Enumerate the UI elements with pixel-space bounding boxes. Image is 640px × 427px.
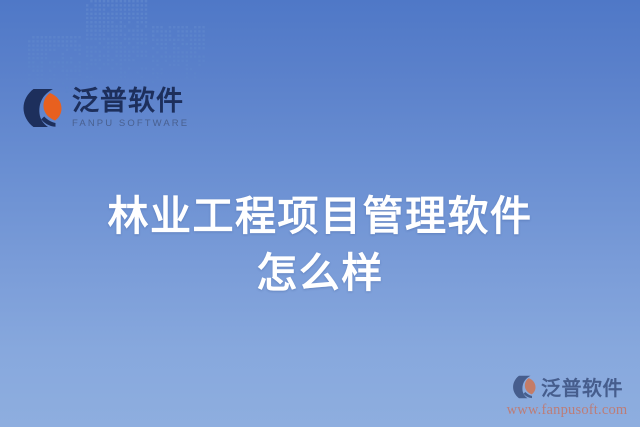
headline-line-1: 林业工程项目管理软件 (0, 188, 640, 245)
brand-name-cn: 泛普软件 (72, 88, 189, 116)
fanpu-hexagon-swoosh-logo-icon (20, 86, 64, 130)
fanpu-hexagon-swoosh-logo-icon (511, 374, 537, 400)
promo-banner: 泛普软件 FANPU SOFTWARE 林业工程项目管理软件 怎么样 泛普软件 … (0, 0, 640, 427)
watermark-url: www.fanpusoft.com (502, 402, 632, 419)
watermark: 泛普软件 www.fanpusoft.com (502, 372, 632, 419)
brand-wordmark: 泛普软件 FANPU SOFTWARE (72, 88, 189, 129)
watermark-logo-row: 泛普软件 (502, 372, 632, 401)
brand-name-en: FANPU SOFTWARE (72, 118, 189, 129)
brand-logo: 泛普软件 FANPU SOFTWARE (20, 86, 189, 130)
headline: 林业工程项目管理软件 怎么样 (0, 188, 640, 302)
pixel-skyline-decoration-icon (0, 0, 640, 95)
headline-line-2: 怎么样 (0, 245, 640, 302)
watermark-name-cn: 泛普软件 (541, 372, 623, 401)
